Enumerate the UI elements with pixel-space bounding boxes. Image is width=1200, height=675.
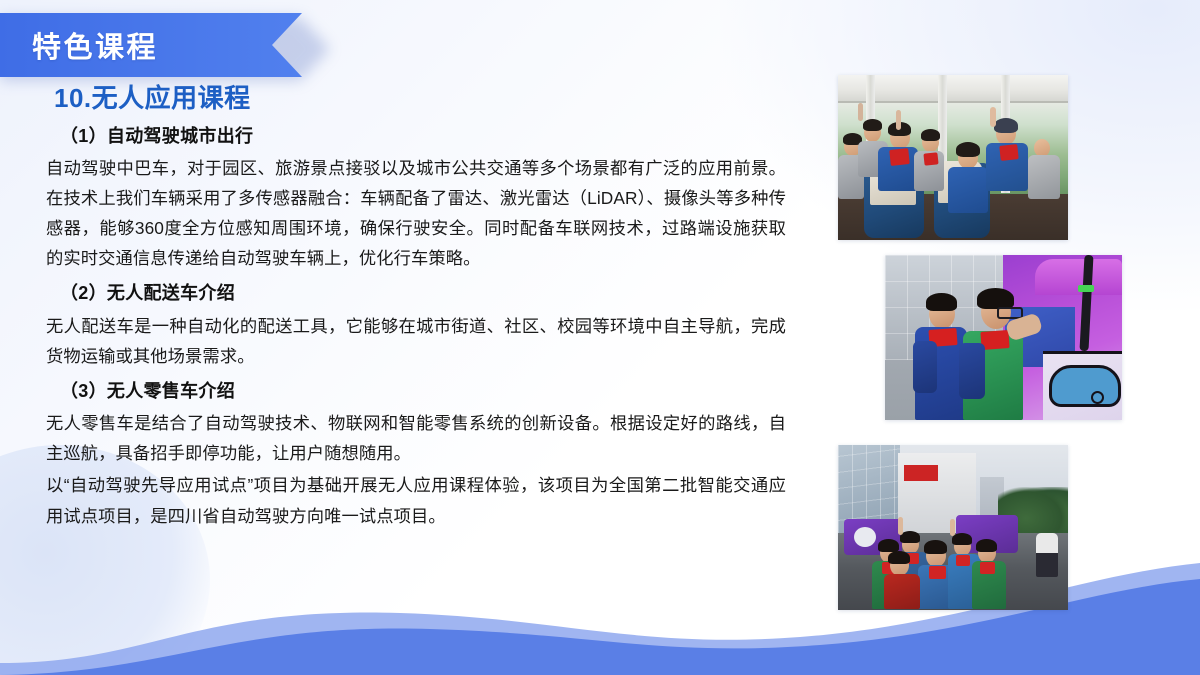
ribbon-title-text: 特色课程	[32, 13, 158, 77]
section-2-title: （2）无人配送车介绍	[60, 282, 786, 305]
photo2-cartoon-face	[1049, 365, 1121, 407]
section-3-title: （3）无人零售车介绍	[60, 380, 786, 403]
section-3: （3）无人零售车介绍 无人零售车是结合了自动驾驶技术、物联网和智能零售系统的创新…	[46, 380, 786, 531]
photo2-cartoon-detail	[1091, 391, 1104, 404]
photo3-student-group	[876, 521, 1008, 609]
slide-root: 特色课程 10.无人应用课程 （1）自动驾驶城市出行 自动驾驶中巴车，对于园区、…	[0, 0, 1200, 675]
section-1-paragraph-1: 自动驾驶中巴车，对于园区、旅游景点接驳以及城市公共交通等多个场景都有广泛的应用前…	[46, 153, 786, 273]
header-ribbon: 特色课程	[0, 13, 330, 77]
photo3-panda-graphic	[854, 527, 876, 547]
section-1: （1）自动驾驶城市出行 自动驾驶中巴车，对于园区、旅游景点接驳以及城市公共交通等…	[46, 125, 786, 274]
photo2-status-light	[1078, 285, 1094, 292]
photo-retail-vehicle	[885, 255, 1122, 420]
photo3-adult-figure	[1036, 533, 1058, 577]
section-3-paragraph-2: 以“自动驾驶先导应用试点”项目为基础开展无人应用课程体验，该项目为全国第二批智能…	[46, 470, 786, 530]
photo3-red-banner	[904, 465, 938, 481]
section-2: （2）无人配送车介绍 无人配送车是一种自动化的配送工具，它能够在城市街道、社区、…	[46, 282, 786, 371]
page-title: 10.无人应用课程	[54, 82, 786, 115]
section-2-paragraph-1: 无人配送车是一种自动化的配送工具，它能够在城市街道、社区、校园等环境中自主导航，…	[46, 311, 786, 371]
photo-group-outdoor	[838, 445, 1068, 610]
photo-bus-interior	[838, 75, 1068, 240]
section-1-title: （1）自动驾驶城市出行	[60, 125, 786, 148]
content-column: 10.无人应用课程 （1）自动驾驶城市出行 自动驾驶中巴车，对于园区、旅游景点接…	[46, 82, 786, 533]
section-3-paragraph-1: 无人零售车是结合了自动驾驶技术、物联网和智能零售系统的创新设备。根据设定好的路线…	[46, 408, 786, 468]
